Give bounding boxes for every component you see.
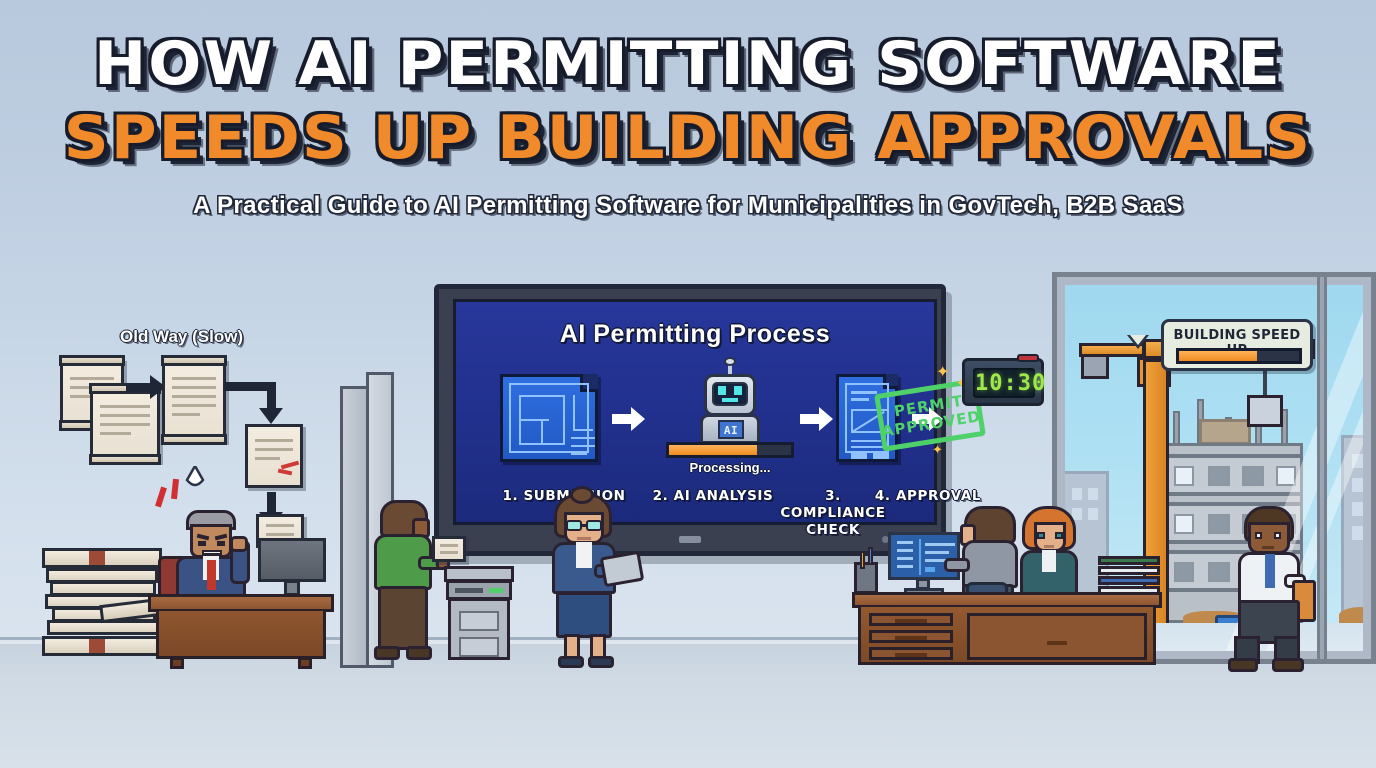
worker-woman-eye-left <box>1037 532 1045 539</box>
tablet-device[interactable] <box>600 551 645 587</box>
paper-document-4-rejected <box>245 424 303 488</box>
woman-glasses-right <box>586 520 602 531</box>
step-captions: 1. SUBMISSION 2. AI ANALYSIS 3. COMPLIAN… <box>470 488 920 534</box>
desk-drawer-2[interactable] <box>869 630 953 643</box>
crane-load <box>1247 395 1283 427</box>
flow-arrow-1 <box>126 383 152 392</box>
pencil-cup <box>854 562 878 594</box>
printer-cabinet <box>448 598 510 660</box>
ai-progress-bar <box>666 442 794 458</box>
office-printer[interactable] <box>444 566 514 666</box>
banner-tail-fill <box>1130 335 1146 345</box>
speed-progress-bar <box>1176 348 1302 364</box>
woman-shirt <box>576 542 592 568</box>
desk-drawer-3[interactable] <box>869 647 953 660</box>
robot-eye-left <box>718 386 726 395</box>
clerk-desk <box>148 594 334 670</box>
paper-document-3 <box>162 358 226 442</box>
official-with-tablet <box>550 494 624 670</box>
robot-icon[interactable]: AI <box>694 362 766 454</box>
speed-up-banner: BUILDING SPEED UP <box>1161 319 1313 371</box>
man-green-pants <box>378 586 428 650</box>
page-subtitle: A Practical Guide to AI Permitting Softw… <box>0 192 1376 220</box>
woman-mouth <box>577 537 591 540</box>
page-title-line-1: HOW AI PERMITTING SOFTWARE <box>0 34 1376 94</box>
clock-time-display: 10:30 <box>973 368 1035 398</box>
printer-slot <box>455 588 483 593</box>
worker-man-arm <box>944 558 970 572</box>
clerk-mouth <box>202 550 222 555</box>
walker-shoe-left <box>1228 658 1258 672</box>
walker-tie <box>1265 554 1275 588</box>
worker-seated-woman <box>1020 506 1080 606</box>
desk-cabinet[interactable] <box>967 613 1147 660</box>
process-arrow-1 <box>612 414 632 424</box>
clerk-tie <box>207 560 216 590</box>
walker-eye-left <box>1255 532 1262 539</box>
concrete-block <box>1199 419 1251 445</box>
flow-arrow-2-v <box>267 382 276 410</box>
worker-woman-shirt <box>1042 550 1056 572</box>
robot-antenna-tip <box>724 357 736 366</box>
walking-professional <box>1236 506 1306 674</box>
presentation-display[interactable]: AI Permitting Process <box>434 284 946 556</box>
sweat-drop-icon <box>185 466 205 488</box>
old-monitor <box>258 528 330 600</box>
clerk-hand <box>230 536 248 552</box>
worker-man-shirt <box>962 540 1018 588</box>
step-label-3-line2: CHECK <box>770 522 896 539</box>
robot-mouth <box>722 398 738 402</box>
display-screen[interactable]: AI Permitting Process <box>453 299 937 525</box>
worker-woman-eye-right <box>1055 532 1063 539</box>
printer-status-light <box>489 588 503 593</box>
desktop-monitor-screen[interactable] <box>888 532 960 580</box>
right-desk-body <box>858 607 1156 665</box>
old-way-label: Old Way (Slow) <box>120 327 243 347</box>
ai-progress-fill <box>669 445 757 455</box>
anger-mark-2 <box>171 479 179 500</box>
page-title-line-2: SPEEDS UP BUILDING APPROVALS <box>0 108 1376 168</box>
red-mark-icon-2 <box>278 469 293 476</box>
red-mark-icon <box>281 461 299 470</box>
sparkle-icon-3: ✦ <box>932 442 943 458</box>
header: HOW AI PERMITTING SOFTWARE SPEEDS UP BUI… <box>0 34 1376 220</box>
woman-shoe-right <box>588 656 614 668</box>
printer-body <box>446 580 512 600</box>
step-label-2: 2. AI ANALYSIS <box>638 488 788 505</box>
clerk-character <box>172 510 268 602</box>
processing-label: Processing... <box>666 460 794 475</box>
robot-chest-label: AI <box>718 420 744 439</box>
printer-drawer-1[interactable] <box>459 611 499 631</box>
printer-drawer-2[interactable] <box>459 637 499 657</box>
walker-eye-right <box>1274 532 1281 539</box>
flow-arrow-3 <box>267 492 276 514</box>
sparkle-icon-1: ✦ <box>936 362 949 382</box>
right-desk-top <box>852 592 1162 608</box>
woman-skirt <box>556 592 612 638</box>
walker-mouth <box>1262 546 1274 549</box>
clerk-eye-left <box>198 541 206 546</box>
printed-paper <box>432 536 466 562</box>
man-green-shoe-left <box>374 646 400 660</box>
anger-mark-1 <box>155 487 167 508</box>
clerk-eye-right <box>217 541 225 546</box>
step-label-4: 4. APPROVAL <box>868 488 988 505</box>
employee-at-printer <box>374 500 436 670</box>
woman-shoe-left <box>558 656 584 668</box>
robot-eye-right <box>734 386 742 395</box>
worker-woman-mouth <box>1044 545 1054 548</box>
display-brand-logo <box>679 536 701 543</box>
digital-clock: 10:30 <box>962 358 1044 406</box>
right-office-desk <box>852 592 1162 674</box>
process-row: AI Processing... <box>470 366 920 476</box>
woman-glasses-left <box>566 520 582 531</box>
woman-glasses-bridge <box>581 524 587 527</box>
blueprint-document-icon[interactable] <box>500 374 598 462</box>
man-green-shoe-right <box>406 646 432 660</box>
screen-title: AI Permitting Process <box>456 320 934 349</box>
clock-button[interactable] <box>1017 354 1039 362</box>
desk-drawer-1[interactable] <box>869 613 953 626</box>
walker-shoe-right <box>1272 658 1304 672</box>
woman-hair-bun <box>570 486 594 504</box>
window-mullion <box>1317 277 1327 659</box>
old-monitor-screen <box>258 538 326 582</box>
process-arrow-2 <box>800 414 820 424</box>
speed-progress-fill <box>1179 351 1257 361</box>
